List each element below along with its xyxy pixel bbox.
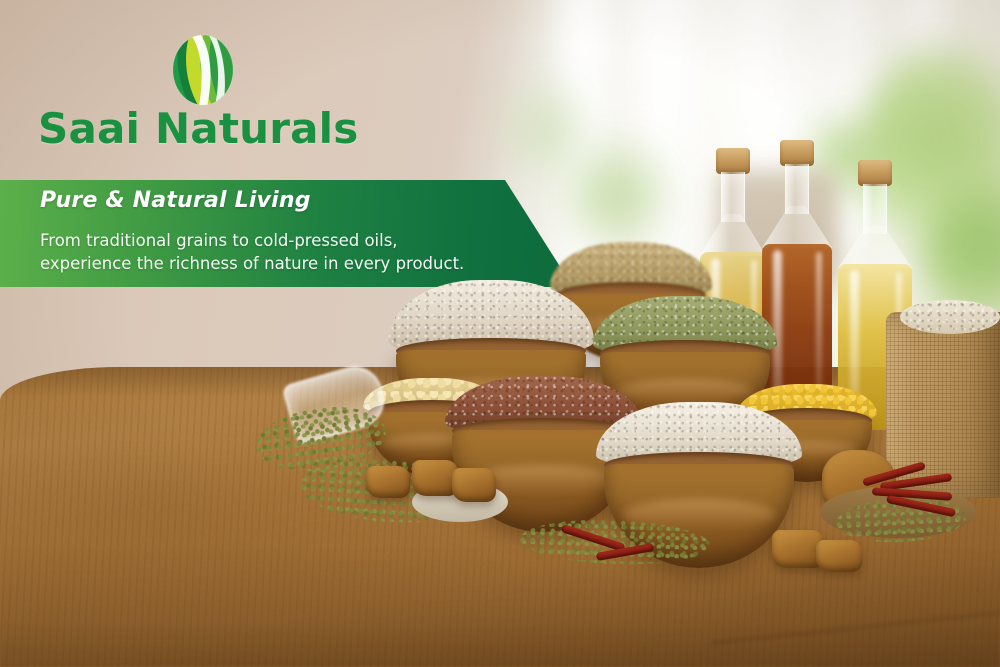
cork-stopper [716,148,750,174]
leaf-sphere-logo-icon [172,34,234,106]
cork-stopper [780,140,814,166]
brand-wordmark: Saai Naturals [38,104,358,153]
cork-stopper [858,160,892,186]
tagline-body-line-1: From traditional grains to cold-pressed … [40,229,520,252]
jaggery-lump [366,466,410,498]
tagline-body: From traditional grains to cold-pressed … [40,229,520,275]
bottle-shoulder [700,214,766,256]
jaggery-lump [816,540,862,572]
promotional-banner: Saai Naturals Pure & Natural Living From… [0,0,1000,667]
tagline-headline: Pure & Natural Living [40,188,311,213]
bottle-shoulder [838,226,912,268]
tagline-body-line-2: experience the richness of nature in eve… [40,252,520,275]
jaggery-lump [452,468,496,502]
sack-grain-top [900,300,1000,334]
brand-overlay: Saai Naturals Pure & Natural Living From… [0,0,620,300]
bottle-shoulder [762,206,832,248]
